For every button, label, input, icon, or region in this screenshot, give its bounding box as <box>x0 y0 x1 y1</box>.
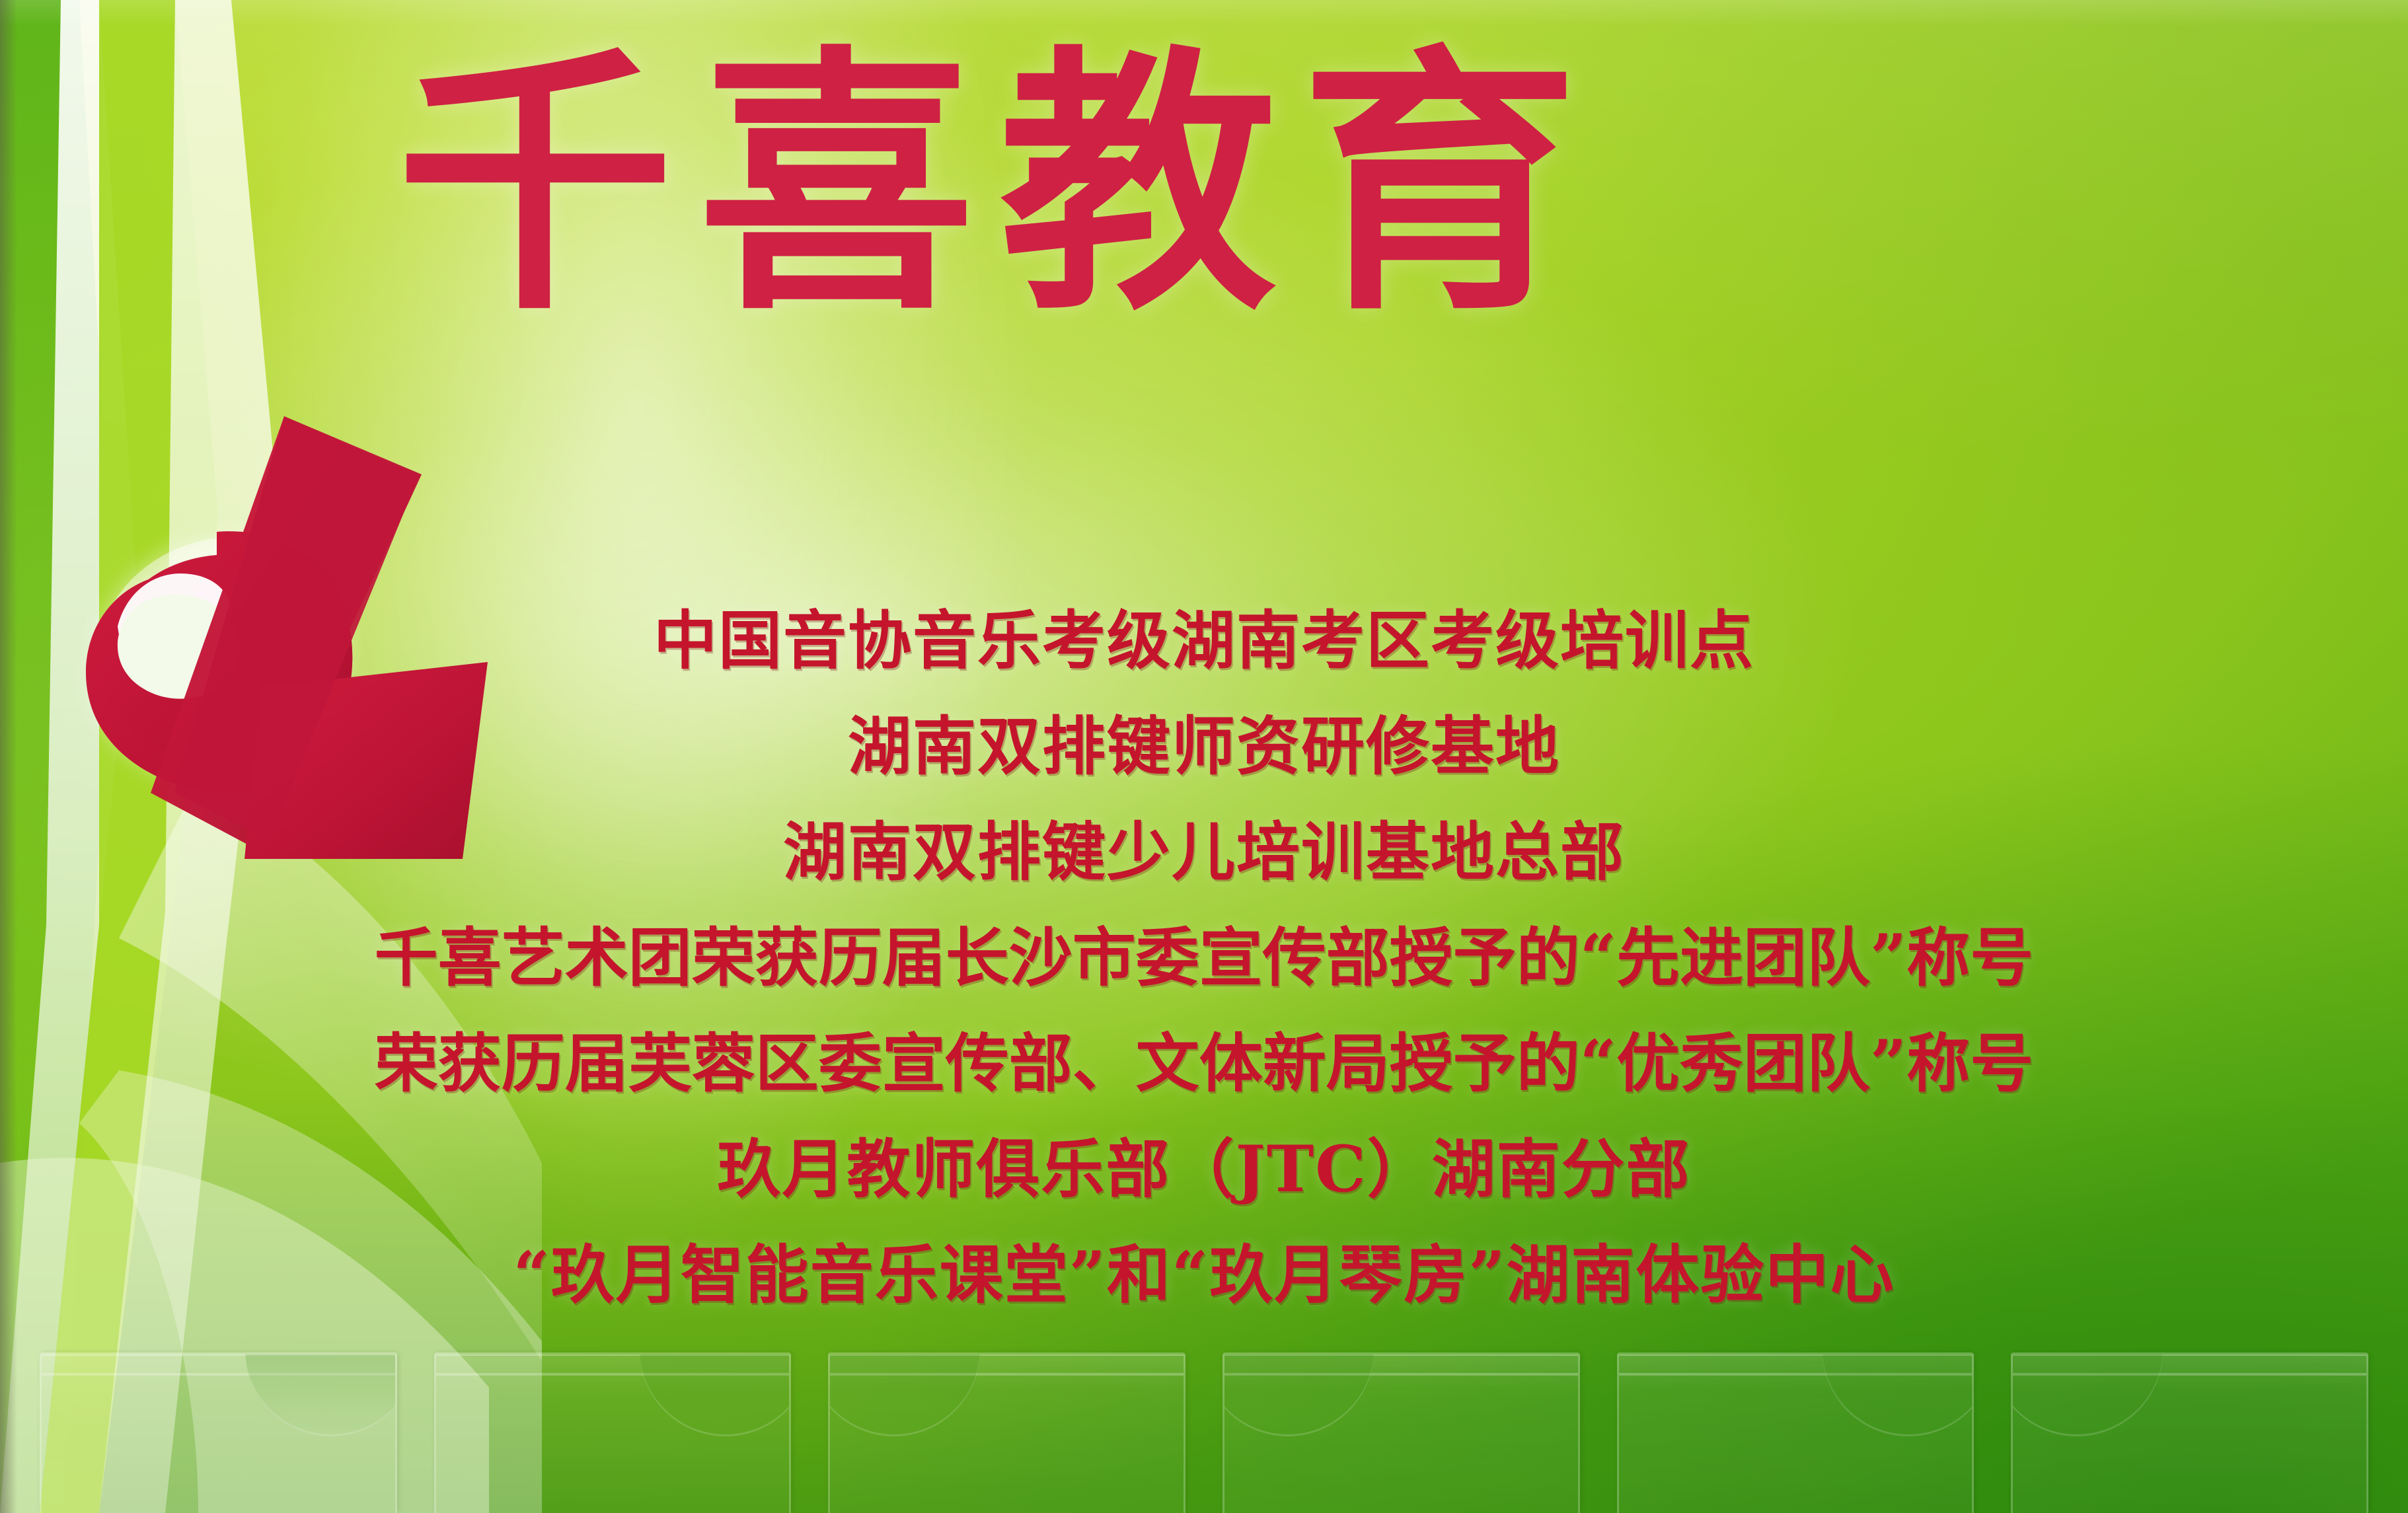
brochure-holder[interactable] <box>2011 1352 2368 1513</box>
brochure-holder[interactable] <box>1223 1352 1580 1513</box>
holder-notch <box>828 1352 979 1436</box>
credential-line-1: 中国音协音乐考级湖南考区考级培训点 <box>0 588 2408 694</box>
signage-board: 千喜教育 中国音协音乐考级湖南考区考级培训点 湖南双排键师资研修基地 湖南双排键… <box>0 0 2408 1513</box>
credential-line-5: 荣获历届芙蓉区委宣传部、文体新局授予的“优秀团队”称号 <box>0 1011 2408 1117</box>
holder-notch <box>640 1352 791 1436</box>
credential-line-3: 湖南双排键少儿培训基地总部 <box>0 799 2408 905</box>
brochure-holder[interactable] <box>434 1352 792 1513</box>
holder-notch <box>1823 1352 1974 1436</box>
holder-notch <box>245 1352 396 1436</box>
brochure-holder[interactable] <box>828 1352 1185 1513</box>
credential-line-4: 千喜艺术团荣获历届长沙市委宣传部授予的“先进团队”称号 <box>0 905 2408 1011</box>
credential-line-2: 湖南双排键师资研修基地 <box>0 694 2408 799</box>
page-title: 千喜教育 <box>396 46 2088 324</box>
brochure-holder[interactable] <box>40 1352 397 1513</box>
credential-line-6: 玖月教师俱乐部（JTC）湖南分部 <box>0 1117 2408 1222</box>
holder-notch <box>2011 1352 2162 1436</box>
brochure-holder-row <box>0 1315 2408 1513</box>
credential-line-7: “玖月智能音乐课堂”和“玖月琴房”湖南体验中心 <box>0 1222 2408 1328</box>
holder-notch <box>1223 1352 1374 1436</box>
brochure-holder[interactable] <box>1617 1352 1975 1513</box>
credentials-list: 中国音协音乐考级湖南考区考级培训点 湖南双排键师资研修基地 湖南双排键少儿培训基… <box>0 588 2408 1328</box>
